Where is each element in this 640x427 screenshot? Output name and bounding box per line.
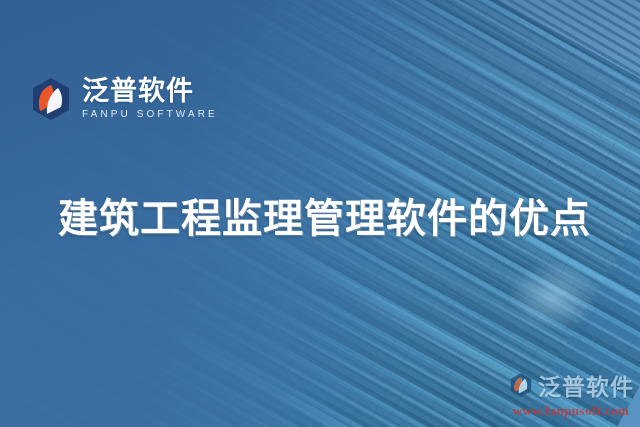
fanpu-hexagon-swoosh-logo-icon (508, 372, 534, 398)
watermark-brand-name: 泛普软件 (538, 368, 634, 402)
watermark-url: www.fanpusoft.com (513, 403, 630, 419)
brand-name-cn: 泛普软件 (82, 78, 218, 105)
brand-text: 泛普软件 FANPU SOFTWARE (82, 78, 218, 120)
glass-glare-spot (508, 261, 598, 331)
watermark-logo-row: 泛普软件 (508, 368, 634, 402)
fanpu-hexagon-swoosh-logo-icon (28, 76, 74, 122)
brand-logo: 泛普软件 FANPU SOFTWARE (28, 76, 218, 122)
headline-title: 建筑工程监理管理软件的优点 (58, 186, 591, 244)
banner-image: 泛普软件 FANPU SOFTWARE 建筑工程监理管理软件的优点 泛普软件 w… (0, 0, 640, 427)
watermark: 泛普软件 www.fanpusoft.com (508, 368, 634, 419)
brand-name-en: FANPU SOFTWARE (82, 110, 218, 120)
